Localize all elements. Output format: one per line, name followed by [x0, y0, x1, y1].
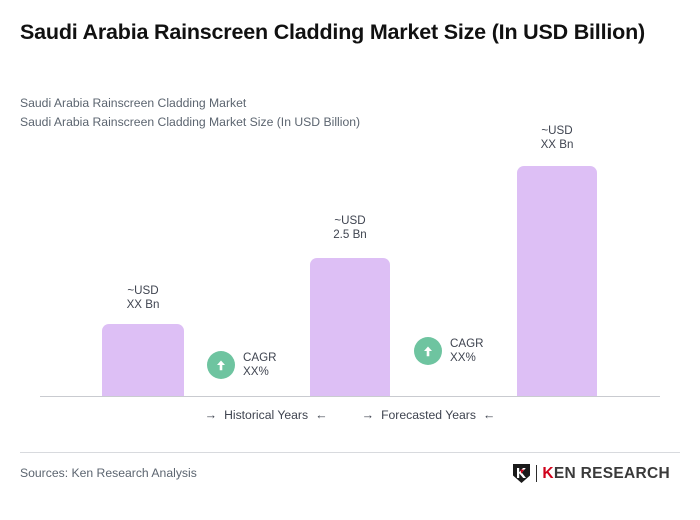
- cagr-label-historical-line1: CAGR: [243, 351, 277, 364]
- period-historical: → Historical Years ←: [205, 408, 328, 422]
- sources-text: Sources: Ken Research Analysis: [20, 466, 197, 480]
- arrow-right-icon: →: [205, 409, 218, 422]
- cagr-label-historical-line2: XX%: [243, 365, 269, 378]
- chart-baseline-axis: [40, 396, 660, 397]
- cagr-annotation-forecast: CAGRXX%: [414, 337, 484, 366]
- logo-wordmark: KEN RESEARCH: [542, 466, 670, 482]
- cagr-label-forecast: CAGRXX%: [450, 337, 484, 366]
- logo-wordmark-rest: EN RESEARCH: [554, 465, 670, 482]
- footer-divider: [20, 452, 680, 453]
- arrow-left-icon: ←: [315, 409, 328, 422]
- logo-wordmark-k: K: [542, 465, 554, 482]
- cagr-annotation-historical: CAGRXX%: [207, 351, 277, 380]
- arrow-left-icon: ←: [483, 409, 496, 422]
- logo-divider: [536, 465, 538, 482]
- period-forecasted-label: Forecasted Years: [381, 408, 476, 422]
- bar-label-2: ~USD 2.5 Bn: [309, 214, 391, 243]
- bar-2[interactable]: [310, 258, 390, 396]
- arrow-right-icon: →: [362, 409, 375, 422]
- cagr-label-forecast-line2: XX%: [450, 351, 476, 364]
- period-forecasted: → Forecasted Years ←: [362, 408, 496, 422]
- chart-plot-area: ~USD XX Bn CAGRXX% ~USD 2.5 Bn CAGRXX% ~: [0, 0, 700, 440]
- bar-label-3: ~USD XX Bn: [516, 124, 598, 153]
- arrow-up-icon: [414, 337, 442, 365]
- bar-3[interactable]: [517, 166, 597, 396]
- period-legend: → Historical Years ← → Forecasted Years …: [40, 408, 660, 422]
- cagr-label-historical: CAGRXX%: [243, 351, 277, 380]
- bar-1[interactable]: [102, 324, 184, 396]
- period-historical-label: Historical Years: [224, 408, 308, 422]
- ken-research-logo: KEN RESEARCH: [512, 463, 670, 484]
- ken-research-shield-icon: [512, 463, 531, 484]
- chart-card: Saudi Arabia Rainscreen Cladding Market …: [0, 0, 700, 520]
- cagr-label-forecast-line1: CAGR: [450, 337, 484, 350]
- arrow-up-icon: [207, 351, 235, 379]
- bar-label-1: ~USD XX Bn: [102, 284, 184, 313]
